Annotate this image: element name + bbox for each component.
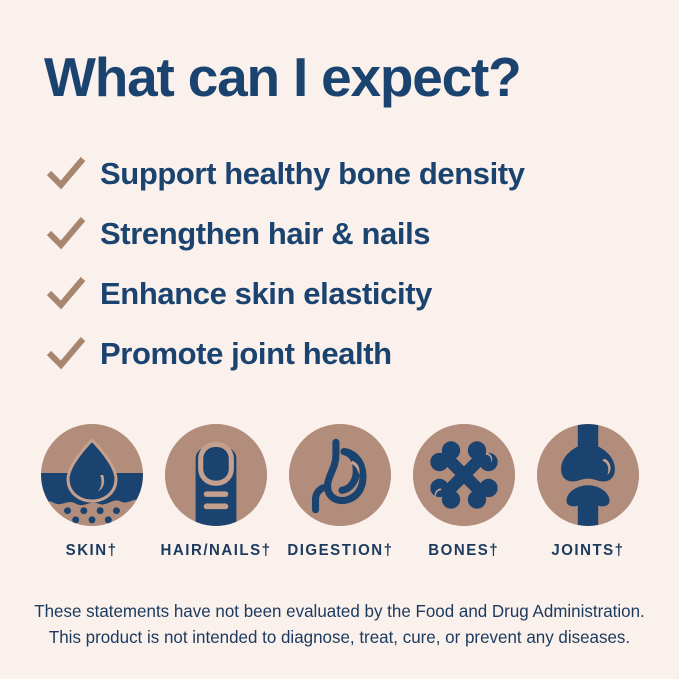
benefit-icon-row: SKIN† HAIR/NAILS† [36,424,644,560]
disclaimer-line-2: This product is not intended to diagnose… [10,624,669,650]
skin-droplet-icon [41,424,143,526]
list-item: Strengthen hair & nails [44,203,644,263]
benefit-label: Enhance skin elasticity [100,278,432,309]
icon-label-bones: BONES† [429,542,500,560]
fingernail-icon [165,424,267,526]
product-benefits-panel: What can I expect? Support healthy bone … [0,0,679,679]
icon-label-digestion: DIGESTION† [287,542,393,560]
list-item: Enhance skin elasticity [44,263,644,323]
icon-cell-skin: SKIN† [36,424,148,560]
icon-label-hair-nails: HAIR/NAILS† [161,542,272,560]
benefit-label: Strengthen hair & nails [100,218,430,249]
list-item: Promote joint health [44,323,644,383]
icon-cell-hair-nails: HAIR/NAILS† [160,424,272,560]
page-title: What can I expect? [44,46,521,109]
benefit-label: Promote joint health [100,338,392,369]
benefit-label: Support healthy bone density [100,158,525,189]
check-icon [44,153,88,193]
icon-label-skin: SKIN† [66,542,118,560]
disclaimer-line-1: These statements have not been evaluated… [10,598,669,624]
stomach-icon [289,424,391,526]
icon-label-joints: JOINTS† [551,542,624,560]
icon-cell-digestion: DIGESTION† [284,424,396,560]
check-icon [44,333,88,373]
crossed-bones-icon [413,424,515,526]
icon-cell-joints: JOINTS† [532,424,644,560]
check-icon [44,273,88,313]
check-icon [44,213,88,253]
benefit-list: Support healthy bone density Strengthen … [44,143,644,383]
knee-joint-icon [537,424,639,526]
list-item: Support healthy bone density [44,143,644,203]
icon-cell-bones: BONES† [408,424,520,560]
fda-disclaimer: These statements have not been evaluated… [10,598,669,651]
